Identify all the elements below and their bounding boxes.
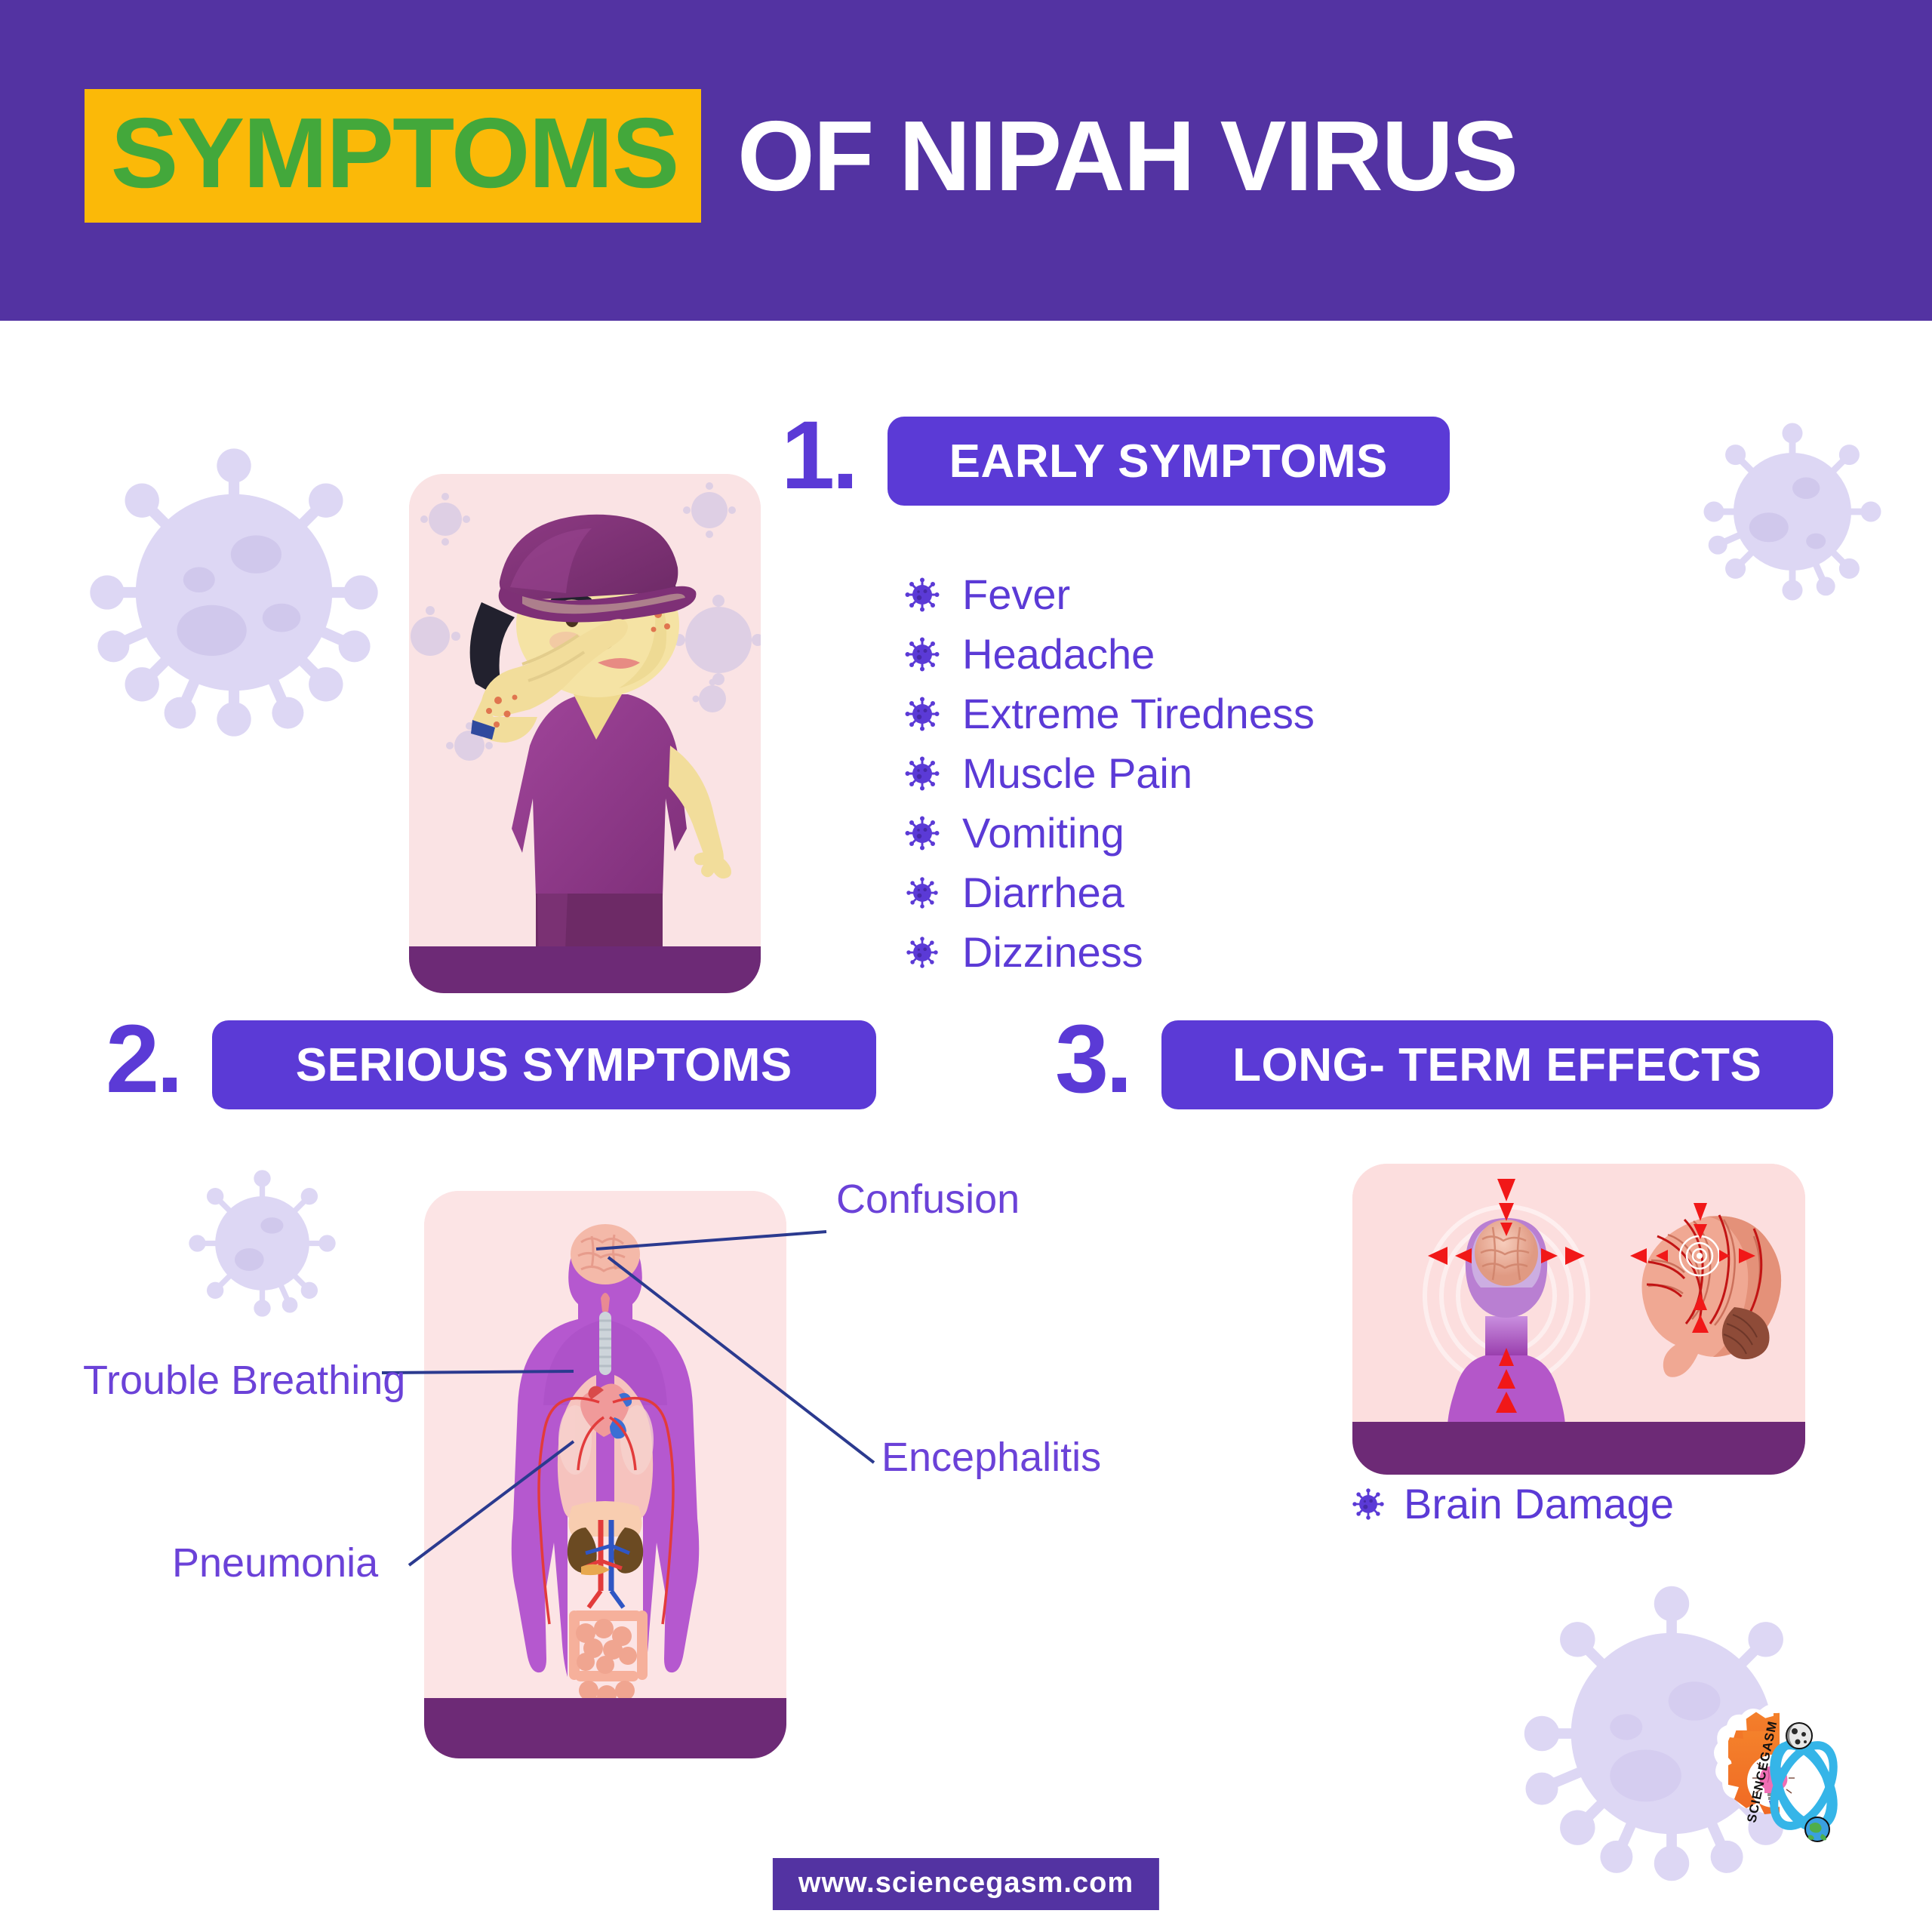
section-3-number: 3. xyxy=(1055,1011,1130,1118)
list-item: Diarrhea xyxy=(902,864,1315,921)
list-item-label: Extreme Tiredness xyxy=(962,689,1315,738)
virus-bullet-icon xyxy=(902,814,943,852)
list-item: Extreme Tiredness xyxy=(902,685,1315,742)
list-item-label: Brain Damage xyxy=(1404,1479,1674,1528)
callout-label-encephalitis: Encephalitis xyxy=(881,1434,1101,1481)
section-3-header: 3. LONG- TERM EFFECTS xyxy=(1055,1011,1833,1118)
brain-damage-illustration xyxy=(1352,1164,1805,1475)
callout-label-trouble-breathing: Trouble Breathing xyxy=(83,1357,405,1404)
list-item-label: Vomiting xyxy=(962,808,1124,857)
section-2-number: 2. xyxy=(106,1011,180,1118)
sick-boy-illustration xyxy=(409,474,761,993)
callout-label-pneumonia: Pneumonia xyxy=(172,1540,378,1586)
section-2-header: 2. SERIOUS SYMPTOMS xyxy=(106,1011,876,1118)
list-item: Muscle Pain xyxy=(902,745,1315,801)
list-item: Dizziness xyxy=(902,924,1315,980)
page-header: SYMPTOMS OF NIPAH VIRUS xyxy=(0,0,1932,321)
list-item-label: Muscle Pain xyxy=(962,749,1192,798)
title-highlight-text: SYMPTOMS xyxy=(111,106,678,200)
section-2-title: SERIOUS SYMPTOMS xyxy=(212,1020,876,1109)
long-term-effects-list: Brain Damage xyxy=(1351,1479,1674,1528)
section-3-title: LONG- TERM EFFECTS xyxy=(1161,1020,1833,1109)
section-1-title: EARLY SYMPTOMS xyxy=(888,417,1450,506)
title-highlight-badge: SYMPTOMS xyxy=(85,89,701,223)
virus-bullet-icon xyxy=(902,875,943,910)
virus-bullet-icon xyxy=(902,576,943,614)
list-item: Vomiting xyxy=(902,804,1315,861)
sciencegasm-logo[interactable]: SCIENCEGASM xyxy=(1683,1697,1872,1885)
virus-decor-top-right xyxy=(1694,414,1890,610)
section-1-number: 1. xyxy=(781,408,856,515)
section-1-header: 1. EARLY SYMPTOMS xyxy=(781,408,1450,515)
list-item-label: Diarrhea xyxy=(962,868,1124,917)
virus-bullet-icon xyxy=(902,755,943,792)
footer-url[interactable]: www.sciencegasm.com xyxy=(773,1858,1159,1910)
list-item: Headache xyxy=(902,626,1315,682)
list-item: Fever xyxy=(902,566,1315,623)
list-item-label: Headache xyxy=(962,629,1155,678)
virus-bullet-icon xyxy=(902,695,943,733)
callout-label-confusion: Confusion xyxy=(836,1176,1020,1223)
list-item-label: Fever xyxy=(962,570,1070,619)
title-rest-text: OF NIPAH VIRUS xyxy=(737,99,1517,213)
early-symptoms-list: Fever Headache xyxy=(902,566,1315,983)
list-item-label: Dizziness xyxy=(962,928,1143,977)
virus-bullet-icon xyxy=(902,635,943,673)
virus-decor-left xyxy=(75,434,392,751)
page-title: SYMPTOMS OF NIPAH VIRUS xyxy=(85,89,1517,223)
virus-bullet-icon xyxy=(1351,1487,1386,1521)
virus-bullet-icon xyxy=(902,935,943,970)
